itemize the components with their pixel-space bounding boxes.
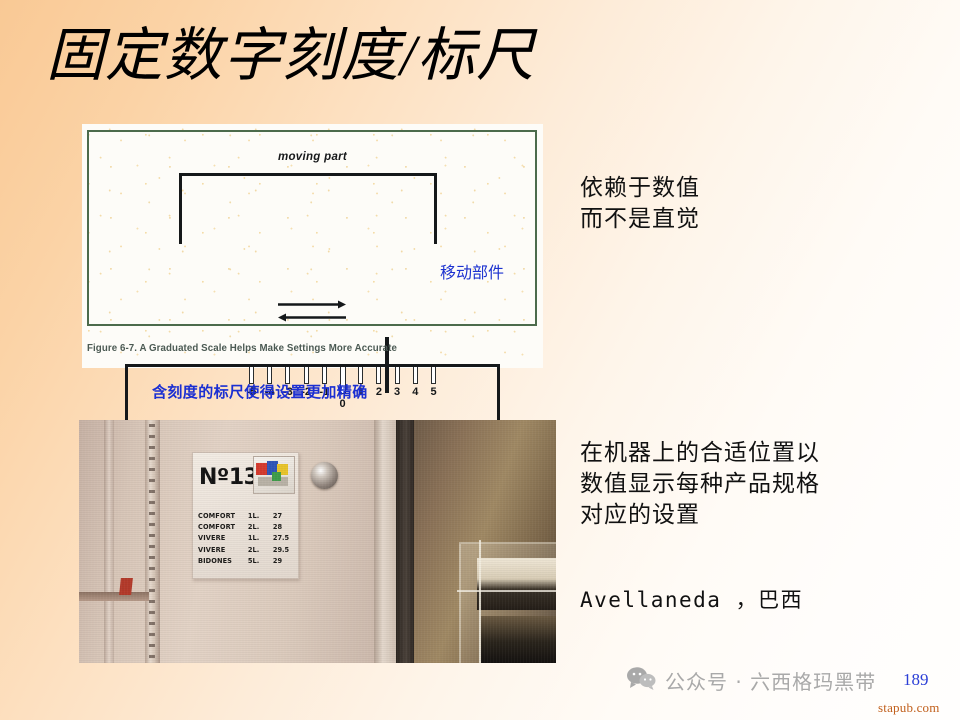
- settings-table-body: COMFORT1L.27COMFORT2L.28VIVERE1L.27.5VIV…: [198, 511, 294, 567]
- photo-machine-part-lower: [481, 616, 556, 663]
- table-row: COMFORT1L.27: [198, 511, 294, 522]
- photo-red-clip: [119, 578, 133, 595]
- setting-value-cell: 27: [273, 511, 294, 522]
- page-number: 189: [903, 670, 929, 690]
- table-row: VIVERE2L.29.5: [198, 545, 294, 556]
- scale-tick: [413, 367, 418, 384]
- product-name-cell: COMFORT: [198, 522, 248, 533]
- product-size-cell: 5L.: [248, 556, 273, 567]
- setting-value-cell: 27.5: [273, 533, 294, 544]
- moving-part-label: moving part: [82, 151, 543, 163]
- product-size-cell: 1L.: [248, 533, 273, 544]
- photo-card-settings-table: COMFORT1L.27COMFORT2L.28VIVERE1L.27.5VIV…: [198, 511, 294, 567]
- site-url: stapub.com: [878, 700, 940, 716]
- setting-value-cell: 29: [273, 556, 294, 567]
- table-row: VIVERE1L.27.5: [198, 533, 294, 544]
- photo-rail-holes: [149, 424, 155, 663]
- figure-caption-en: Figure 6-7. A Graduated Scale Helps Make…: [87, 343, 397, 354]
- product-name-cell: VIVERE: [198, 533, 248, 544]
- photo-setting-card: Nº13 COMFORT1L.27COMFORT2L.28VIVERE1L.27…: [192, 452, 299, 579]
- product-name-cell: VIVERE: [198, 545, 248, 556]
- product-size-cell: 1L.: [248, 511, 273, 522]
- slide-canvas: 固定数字刻度/标尺 moving part -5-4-3-2-1012345 s…: [0, 0, 960, 720]
- product-name-cell: BIDONES: [198, 556, 248, 567]
- figure-caption-cn: 含刻度的标尺使得设置更加精确: [152, 381, 368, 402]
- scale-tick: [376, 367, 381, 384]
- body-text-location: Avellaneda ，巴西: [580, 585, 803, 616]
- body-text-reliance: 依赖于数值 而不是直觉: [580, 172, 700, 234]
- annotation-moving-part: 移动部件: [440, 259, 504, 283]
- photo-metal-knob: [311, 462, 338, 489]
- arrow-left-icon: [278, 313, 346, 322]
- photo-wall-seam: [104, 420, 114, 663]
- photo-door-frame: [374, 420, 396, 663]
- footer-wechat-credit: 公众号 · 六西格玛黑带: [626, 666, 876, 695]
- photo-card-logo-icon: [253, 456, 295, 494]
- product-size-cell: 2L.: [248, 522, 273, 533]
- page-title: 固定数字刻度/标尺: [46, 26, 535, 87]
- product-size-cell: 2L.: [248, 545, 273, 556]
- table-row: COMFORT2L.28: [198, 522, 294, 533]
- photo-door-gap: [396, 420, 414, 663]
- photo-frame-edge-horizontal: [457, 590, 556, 592]
- photo-machine-part-upper: [477, 558, 556, 610]
- arrow-right-icon: [278, 300, 346, 309]
- photo-frame-edge-vertical: [479, 540, 481, 663]
- figure-panel: moving part -5-4-3-2-1012345 stationary …: [82, 124, 543, 368]
- settings-table: COMFORT1L.27COMFORT2L.28VIVERE1L.27.5VIV…: [198, 511, 294, 567]
- factory-photo: Nº13 COMFORT1L.27COMFORT2L.28VIVERE1L.27…: [79, 420, 556, 663]
- wechat-icon: [626, 666, 656, 695]
- footer-wechat-text: 公众号 · 六西格玛黑带: [665, 666, 876, 695]
- table-row: BIDONES5L.29: [198, 556, 294, 567]
- moving-part-box: [179, 173, 437, 244]
- photo-card-number: Nº13: [199, 465, 258, 490]
- scale-tick: [431, 367, 436, 384]
- product-name-cell: COMFORT: [198, 511, 248, 522]
- scale-tick-label: 5: [423, 386, 445, 398]
- body-text-machine-settings: 在机器上的合适位置以 数值显示每种产品规格 对应的设置: [580, 437, 820, 530]
- photo-shelf: [79, 592, 149, 601]
- scale-tick: [395, 367, 400, 384]
- setting-value-cell: 28: [273, 522, 294, 533]
- setting-value-cell: 29.5: [273, 545, 294, 556]
